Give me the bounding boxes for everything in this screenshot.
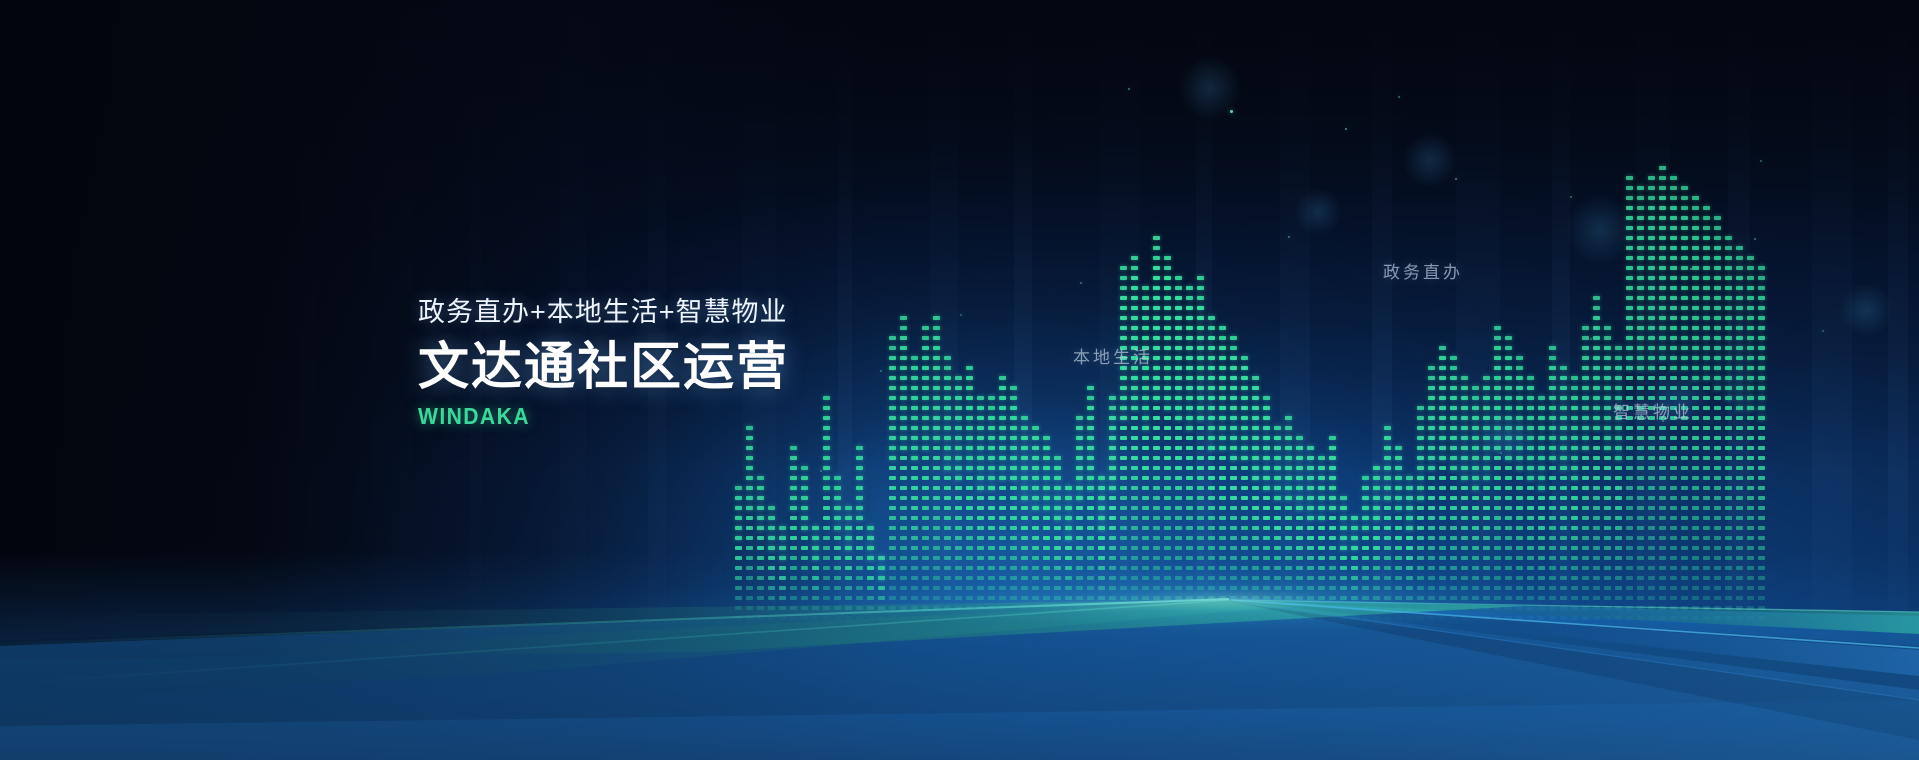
skyline-bar	[1164, 250, 1171, 620]
sparkle-dot-16	[1822, 330, 1824, 332]
skyline-bar	[966, 358, 973, 620]
skyline-bar	[988, 392, 995, 620]
skyline-bar	[944, 350, 951, 620]
skyline-bar	[1406, 472, 1413, 620]
skyline-bar	[933, 308, 940, 620]
skyline-bar	[1318, 454, 1325, 620]
skyline-bar	[1483, 368, 1490, 620]
skyline-bar	[1428, 364, 1435, 620]
skyline-bar	[1175, 266, 1182, 620]
skyline-bar	[1087, 384, 1094, 620]
banner-title: 文达通社区运营	[418, 339, 789, 395]
skyline-bar	[1296, 434, 1303, 620]
tag-label-0: 政务直办	[1383, 258, 1463, 283]
skyline-bar	[1274, 416, 1281, 620]
skyline-bar	[1076, 410, 1083, 620]
skyline-bar	[1593, 290, 1600, 620]
skyline-bar	[1252, 370, 1259, 620]
skyline-bar	[1208, 314, 1215, 620]
sparkle-dot-2	[1455, 178, 1457, 180]
skyline-bar	[1131, 246, 1138, 620]
sparkle-dot-4	[1570, 196, 1572, 198]
skyline-bar	[1747, 252, 1754, 620]
skyline-bar	[845, 502, 852, 620]
skyline-bar	[790, 436, 797, 620]
sparkle-dot-6	[1754, 238, 1756, 240]
sparkle-dot-7	[1590, 338, 1592, 340]
skyline-bar	[1450, 352, 1457, 620]
skyline-bar	[1021, 414, 1028, 620]
skyline-bar	[1098, 468, 1105, 620]
skyline-bar	[823, 388, 830, 620]
skyline-bar	[1395, 436, 1402, 620]
skyline-bar	[1120, 264, 1127, 620]
skyline-bar	[1230, 334, 1237, 620]
skyline-bar	[1604, 324, 1611, 620]
tag-label-2: 智慧物业	[1613, 398, 1693, 423]
skyline-bar	[1439, 336, 1446, 620]
skyline-bar	[1384, 420, 1391, 620]
skyline-bar	[1142, 276, 1149, 620]
skyline-bar	[999, 368, 1006, 620]
tag-label-1: 本地生活	[1073, 343, 1153, 368]
skyline-bar	[801, 460, 808, 620]
skyline-bar	[1340, 494, 1347, 620]
banner-subtitle: 政务直办+本地生活+智慧物业	[418, 296, 789, 330]
skyline-bar	[1758, 264, 1765, 620]
sparkle-dot-13	[820, 470, 822, 472]
sparkle-dot-10	[1080, 282, 1082, 284]
sparkle-halo-2	[1565, 195, 1635, 265]
skyline-bar	[955, 368, 962, 620]
skyline-bar	[900, 314, 907, 620]
sparkle-dot-11	[880, 370, 882, 372]
skyline-bar	[1560, 358, 1567, 620]
headline-block: 政务直办+本地生活+智慧物业 文达通社区运营 WINDAKA	[418, 296, 789, 430]
skyline-bar	[922, 324, 929, 620]
skyline-bar	[1472, 384, 1479, 620]
skyline-bar	[1373, 456, 1380, 620]
skyline-bar	[1186, 280, 1193, 620]
skyline-bar	[768, 502, 775, 620]
skyline-bar	[834, 470, 841, 620]
skyline-bar	[1725, 228, 1732, 620]
sparkle-halo-6	[1839, 283, 1893, 337]
sparkle-dot-1	[1345, 128, 1347, 130]
skyline-bar	[1197, 274, 1204, 620]
skyline-bar	[1109, 394, 1116, 620]
skyline-bar	[1505, 332, 1512, 620]
skyline-bar	[1032, 422, 1039, 620]
skyline-bar	[1241, 346, 1248, 620]
sparkle-dot-14	[1128, 88, 1130, 90]
sparkle-halo-0	[1178, 56, 1242, 120]
sparkle-dot-15	[1398, 96, 1400, 98]
sparkle-dot-17	[1760, 160, 1762, 162]
skyline-bar	[911, 346, 918, 620]
skyline-bar	[1461, 366, 1468, 620]
sparkle-halo-5	[1294, 188, 1342, 236]
skyline-bar	[1527, 370, 1534, 620]
skyline-bar	[1307, 442, 1314, 620]
skyline-bar	[1494, 320, 1501, 620]
skyline-bar	[1010, 382, 1017, 620]
skyline-bar	[1153, 234, 1160, 620]
skyline-bar	[757, 468, 764, 620]
skyline-bar	[856, 444, 863, 620]
skyline-bar	[977, 388, 984, 620]
skyline-bar	[1736, 240, 1743, 620]
skyline-bar	[1219, 322, 1226, 620]
sparkle-dot-12	[960, 314, 962, 316]
skyline-bar	[1549, 342, 1556, 620]
skyline-bar	[1571, 374, 1578, 620]
skyline-bar	[1351, 508, 1358, 620]
banner-root: 政务直办+本地生活+智慧物业 文达通社区运营 WINDAKA 政务直办本地生活智…	[0, 0, 1919, 760]
sparkle-halo-4	[1479, 409, 1537, 467]
sparkle-dot-5	[1690, 268, 1692, 270]
skyline-bar	[746, 424, 753, 620]
skyline-bar	[1054, 454, 1061, 620]
skyline-bar	[1615, 344, 1622, 620]
skyline-bar	[878, 550, 885, 620]
sparkle-dot-3	[1288, 236, 1290, 238]
skyline-bar	[1043, 434, 1050, 620]
skyline-bar	[812, 516, 819, 620]
skyline-bar	[1538, 390, 1545, 620]
sparkle-halo-1	[1402, 132, 1458, 188]
skyline-bar	[1362, 470, 1369, 620]
skyline-bar	[889, 332, 896, 620]
skyline-bar	[1714, 214, 1721, 620]
skyline-bar	[867, 524, 874, 620]
skyline-bar	[1263, 390, 1270, 620]
dotted-skyline-chart	[0, 0, 1919, 760]
skyline-bar	[735, 480, 742, 620]
skyline-bar	[1065, 478, 1072, 620]
skyline-bar	[1417, 404, 1424, 620]
skyline-bar	[779, 524, 786, 620]
skyline-bar	[1285, 414, 1292, 620]
brand-wordmark: WINDAKA	[418, 403, 759, 430]
skyline-bar	[1582, 322, 1589, 620]
skyline-bar	[1329, 430, 1336, 620]
skyline-bar	[1516, 352, 1523, 620]
